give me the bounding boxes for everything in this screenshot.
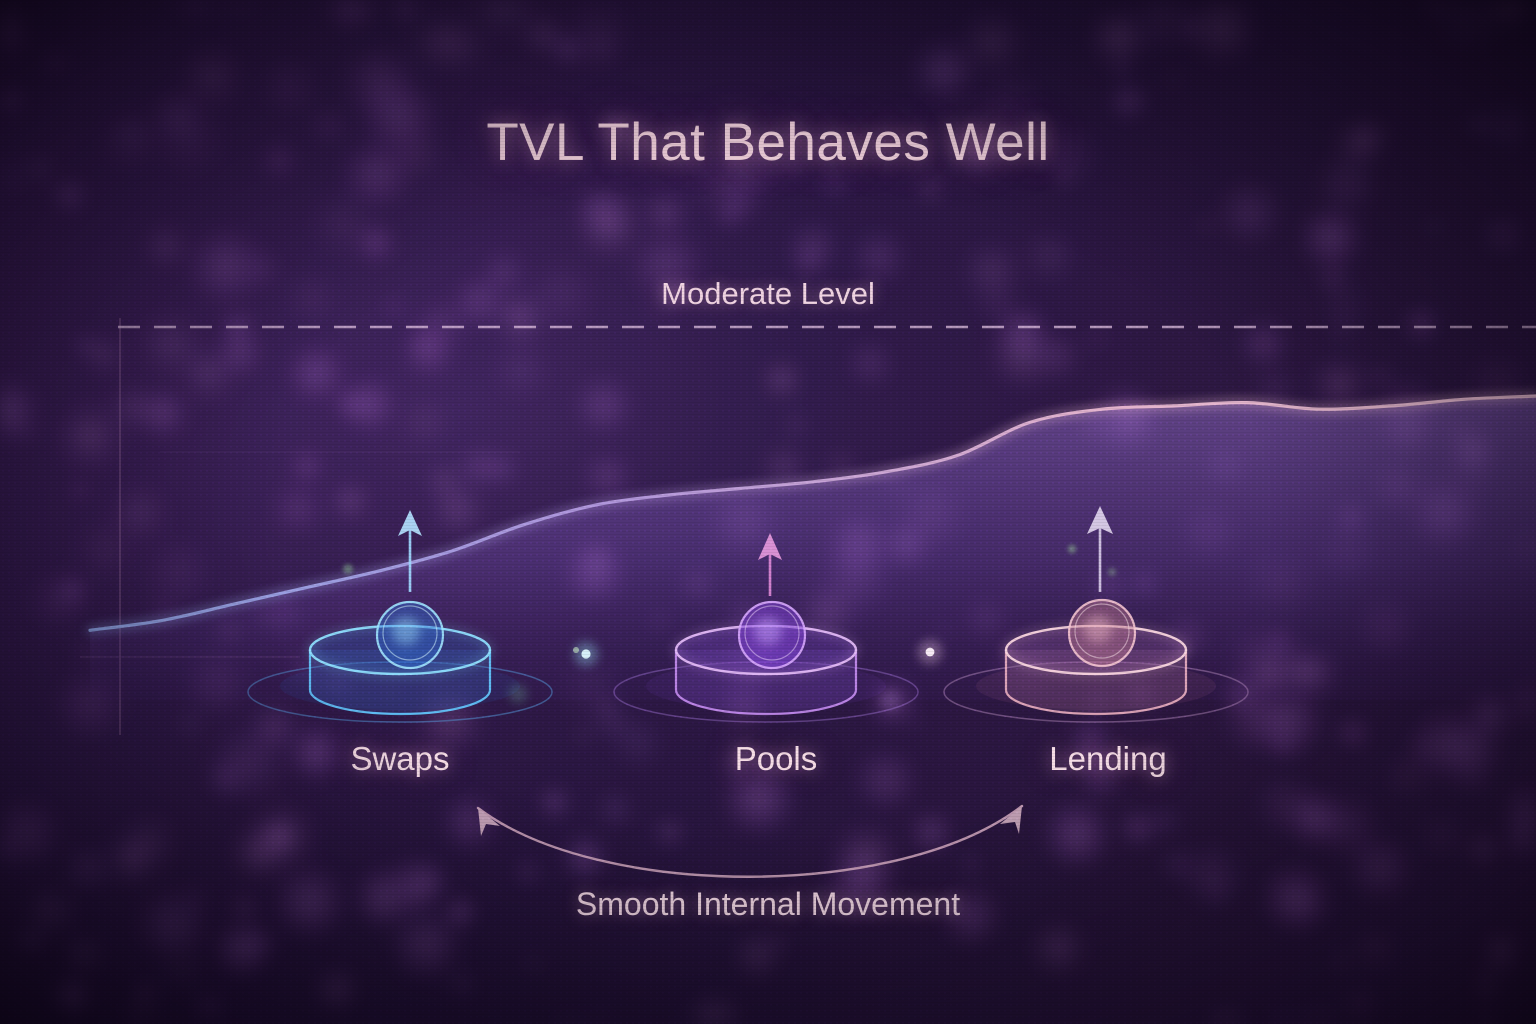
infographic-canvas: TVL That Behaves Well Moderate Level Swa… — [0, 0, 1536, 1024]
vignette-overlay — [0, 0, 1536, 1024]
